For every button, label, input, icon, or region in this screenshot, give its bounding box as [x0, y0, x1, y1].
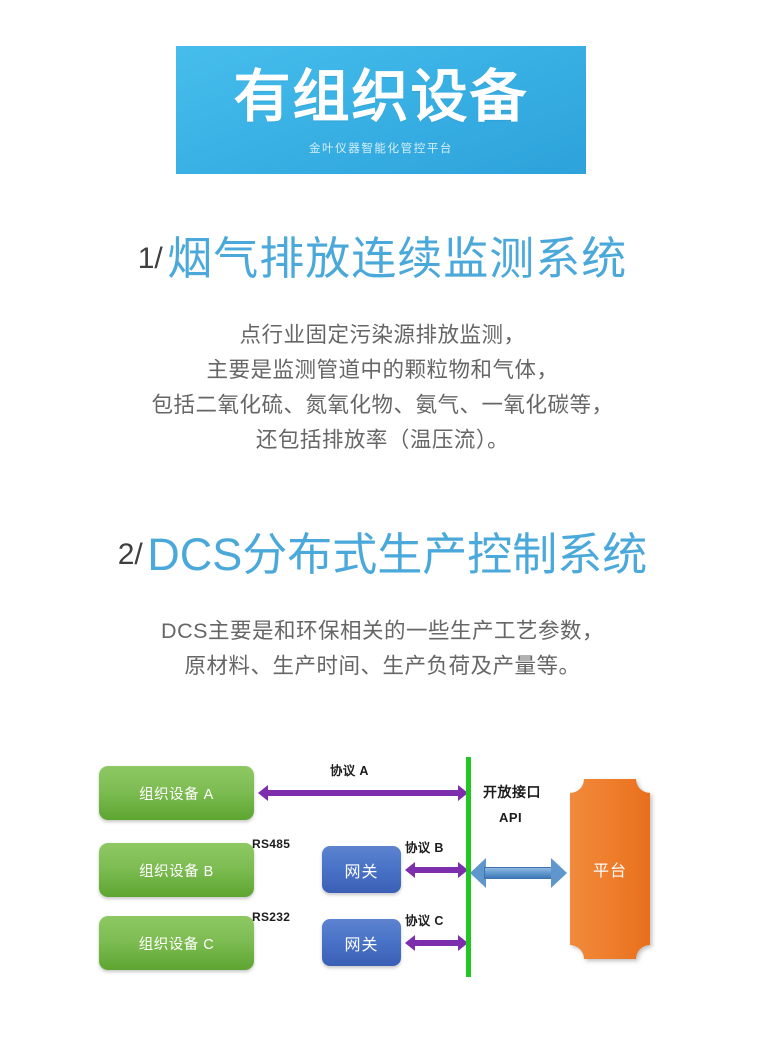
gateway-box-b: 网关	[322, 846, 401, 893]
section-body-1: 点行业固定污染源排放监测， 主要是监测管道中的颗粒物和气体， 包括二氧化硫、氮氧…	[0, 318, 765, 458]
protocol-label-a: 协议 A	[330, 760, 369, 779]
gateway-box-c: 网关	[322, 919, 401, 966]
architecture-diagram: 组织设备 A 组织设备 B 组织设备 C RS485 RS232 网关 网关 协…	[0, 745, 765, 995]
protocol-arrow-c-icon	[405, 935, 468, 951]
protocol-label-b: 协议 B	[405, 837, 444, 856]
body-line: DCS主要是和环保相关的一些生产工艺参数，	[0, 614, 765, 649]
body-line: 还包括排放率（温压流）。	[0, 423, 765, 458]
banner-title: 有组织设备	[234, 68, 529, 128]
device-box-b-label: 组织设备 B	[139, 860, 214, 881]
gateway-box-c-label: 网关	[344, 931, 378, 955]
arrow-shaft	[414, 867, 459, 873]
section-title-2: DCS分布式生产控制系统	[147, 529, 647, 580]
banner-subtitle: 金叶仪器智能化管控平台	[309, 140, 453, 156]
serial-label-rs232: RS232	[252, 910, 290, 924]
body-line: 主要是监测管道中的颗粒物和气体，	[0, 353, 765, 388]
gateway-box-b-label: 网关	[344, 858, 378, 882]
arrow-shaft	[484, 867, 553, 879]
open-interface-label: 开放接口	[483, 782, 541, 802]
platform-label: 平台	[593, 857, 627, 881]
device-box-a-label: 组织设备 A	[139, 783, 214, 804]
header-banner: 有组织设备 金叶仪器智能化管控平台	[176, 46, 586, 174]
device-box-c: 组织设备 C	[99, 916, 254, 970]
section-heading-2: 2/ DCS分布式生产控制系统	[0, 518, 765, 583]
body-line: 包括二氧化硫、氮氧化物、氨气、一氧化碳等，	[0, 388, 765, 423]
protocol-arrow-a-icon	[258, 785, 468, 801]
api-arrow-icon	[470, 858, 567, 888]
protocol-label-c: 协议 C	[405, 910, 444, 929]
arrow-shaft	[414, 940, 459, 946]
body-line: 原材料、生产时间、生产负荷及产量等。	[0, 649, 765, 684]
arrow-shaft	[267, 790, 459, 796]
platform-box: 平台	[570, 779, 650, 959]
section-number-1: 1/	[138, 242, 163, 275]
device-box-b: 组织设备 B	[99, 843, 254, 897]
section-title-1: 烟气排放连续监测系统	[167, 233, 627, 284]
api-label: API	[499, 810, 522, 825]
section-body-2: DCS主要是和环保相关的一些生产工艺参数， 原材料、生产时间、生产负荷及产量等。	[0, 614, 765, 684]
section-heading-1: 1/ 烟气排放连续监测系统	[0, 222, 765, 287]
serial-label-rs485: RS485	[252, 837, 290, 851]
protocol-arrow-b-icon	[405, 862, 468, 878]
platform-label-wrap: 平台	[570, 779, 650, 959]
section-number-2: 2/	[118, 538, 143, 571]
arrow-head-right-icon	[551, 858, 567, 888]
device-box-a: 组织设备 A	[99, 766, 254, 820]
device-box-c-label: 组织设备 C	[139, 933, 215, 954]
body-line: 点行业固定污染源排放监测，	[0, 318, 765, 353]
